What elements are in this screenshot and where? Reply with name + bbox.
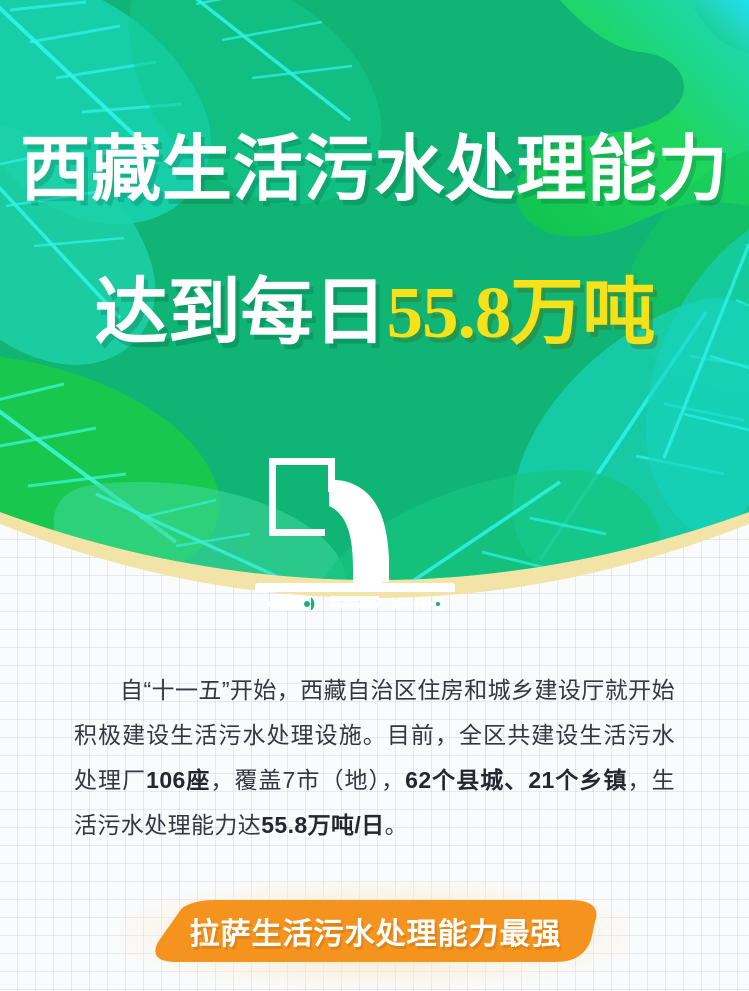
highlight-banner[interactable]: 拉萨生活污水处理能力最强 (148, 900, 603, 962)
page-title: 西藏生活污水处理能力 (11, 128, 738, 212)
banner-label: 拉萨生活污水处理能力最强 (148, 900, 603, 962)
fish-icon (263, 595, 315, 610)
pipe-icon-artwork (255, 440, 455, 610)
body-figure-townships: 21个乡镇 (528, 767, 627, 793)
infographic-poster: 西藏生活污水处理能力 达到每日55.8万吨 (0, 0, 749, 991)
water-lines-icon (331, 596, 379, 610)
body-line-1: 自“十一五”开始，西藏自治区住房和城乡建设厅 (120, 677, 605, 703)
wastewater-discharge-pipe-icon (255, 440, 455, 610)
body-seg-b: ，覆盖7市（地）， (210, 767, 405, 793)
subtitle-prefix: 达到每日 (95, 272, 387, 353)
page-subtitle: 达到每日55.8万吨 (0, 271, 749, 355)
body-seg-d: 。 (385, 812, 408, 838)
body-figure-counties: 62个县城、 (405, 767, 528, 793)
fish-skeleton-icon (393, 596, 444, 610)
subtitle-figure: 55.8万吨 (387, 272, 655, 353)
body-paragraph: 自“十一五”开始，西藏自治区住房和城乡建设厅就开始积极建设生活污水处理设施。目前… (74, 668, 675, 848)
body-figure-plants: 106座 (146, 767, 210, 793)
body-figure-capacity: 55.8万吨/日 (261, 812, 384, 838)
